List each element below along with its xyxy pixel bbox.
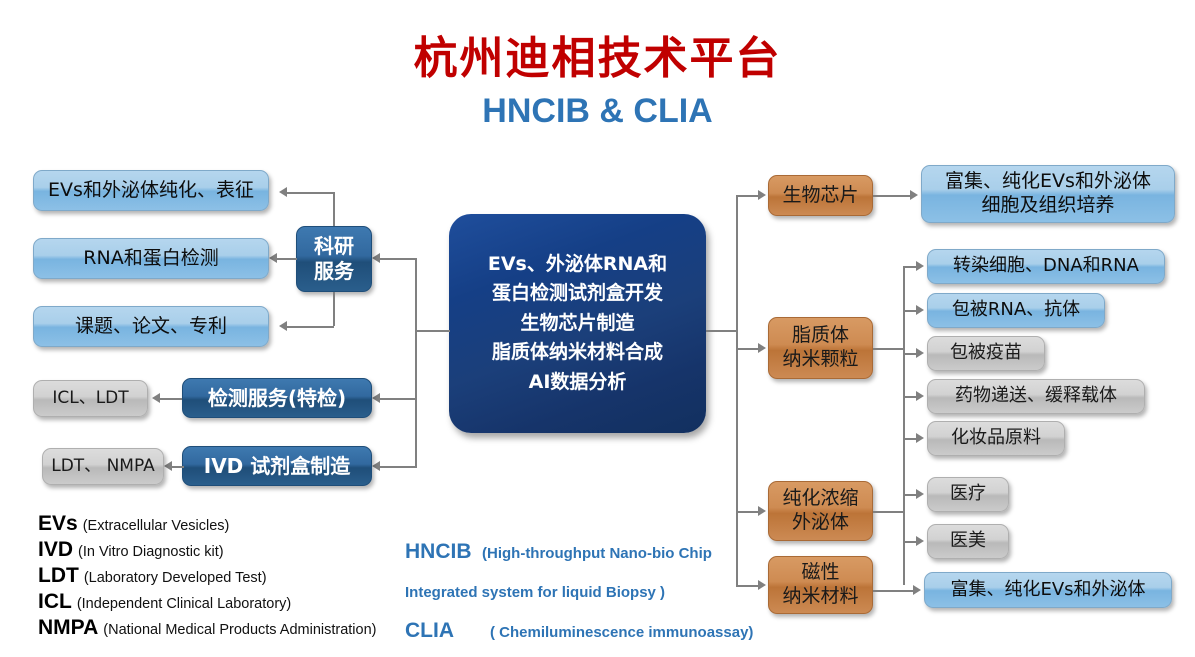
node-cosmetic-raw-material[interactable]: 化妆品原料	[927, 421, 1065, 456]
acronym-hncib-desc-line1: (High-throughput Nano-bio Chip	[482, 545, 712, 562]
acronym-hncib-name: HNCIB	[405, 540, 472, 564]
arrow-lipid-out4	[916, 391, 924, 401]
arrow-lipid-out1	[916, 261, 924, 271]
node-enrich-purify-cell-culture[interactable]: 富集、纯化EVs和外泌体 细胞及组织培养	[921, 165, 1175, 223]
acronym-hncib-desc-line2: Integrated system for liquid Biopsy )	[405, 584, 665, 601]
connector-to-purified-exosome	[736, 511, 760, 513]
hub-line-1: EVs、外泌体RNA和	[459, 250, 696, 279]
hub-line-3: 生物芯片制造	[459, 309, 696, 338]
legend-full-ldt: (Laboratory Developed Test)	[84, 570, 267, 586]
node-medical-aesthetics[interactable]: 医美	[927, 524, 1009, 559]
legend-abbr-ivd: IVD	[38, 538, 73, 562]
node-medical-treatment[interactable]: 医疗	[927, 477, 1009, 512]
connector-biochip-out	[873, 195, 912, 197]
arrow-research-out1	[279, 187, 287, 197]
legend-abbr-evs: EVs	[38, 512, 78, 536]
connector-left-trunk	[415, 258, 417, 468]
arrow-magnetic-out	[913, 585, 921, 595]
legend-item-ldt: LDT (Laboratory Developed Test)	[38, 564, 428, 590]
connector-to-ivd	[380, 466, 417, 468]
legend-full-nmpa: (National Medical Products Administratio…	[103, 622, 376, 638]
page-title-chinese: 杭州迪相技术平台	[0, 22, 1195, 86]
arrow-to-magnetic-nano	[758, 580, 766, 590]
connector-right-trunk	[736, 195, 738, 585]
node-enrich-purify-evs-exosome[interactable]: 富集、纯化EVs和外泌体	[924, 572, 1172, 608]
connector-hub-left-stem	[415, 330, 450, 332]
node-projects-papers-patents[interactable]: 课题、论文、专利	[33, 306, 269, 347]
diagram-canvas: 杭州迪相技术平台 HNCIB & CLIA EVs、外泌体RNA和 蛋白检测试剂…	[0, 0, 1195, 657]
arrow-exosome-out2	[916, 536, 924, 546]
arrow-lipid-out3	[916, 348, 924, 358]
node-ldt-nmpa[interactable]: LDT、 NMPA	[42, 448, 164, 485]
connector-to-magnetic-nano	[736, 585, 760, 587]
hub-line-5: AI数据分析	[459, 368, 696, 397]
arrow-to-research-service	[372, 253, 380, 263]
arrow-to-testing-service	[372, 393, 380, 403]
connector-research-to-out3	[287, 326, 334, 328]
node-drug-delivery-release[interactable]: 药物递送、缓释载体	[927, 379, 1145, 414]
legend-item-icl: ICL (Independent Clinical Laboratory)	[38, 590, 428, 616]
node-coated-vaccine[interactable]: 包被疫苗	[927, 336, 1045, 371]
node-coated-rna-antibody[interactable]: 包被RNA、抗体	[927, 293, 1105, 328]
node-purified-concentrated-exosome[interactable]: 纯化浓缩 外泌体	[768, 481, 873, 541]
connector-ivd-to-ldt	[172, 466, 184, 468]
acronym-clia-desc: ( Chemiluminescence immunoassay)	[490, 624, 753, 641]
node-research-service[interactable]: 科研 服务	[296, 226, 372, 292]
node-ev-purification[interactable]: EVs和外泌体纯化、表征	[33, 170, 269, 211]
central-platform-node[interactable]: EVs、外泌体RNA和 蛋白检测试剂盒开发 生物芯片制造 脂质体纳米材料合成 A…	[449, 214, 706, 433]
connector-exosome-trunk	[903, 494, 905, 542]
node-transfection-dna-rna[interactable]: 转染细胞、DNA和RNA	[927, 249, 1165, 284]
connector-lipid-stem	[873, 348, 905, 350]
legend-item-evs: EVs (Extracellular Vesicles)	[38, 512, 428, 538]
connector-to-lipid-nanoparticle	[736, 348, 760, 350]
node-lipid-nanoparticle[interactable]: 脂质体 纳米颗粒	[768, 317, 873, 379]
node-icl-ldt[interactable]: ICL、LDT	[33, 380, 148, 417]
arrow-to-purified-exosome	[758, 506, 766, 516]
connector-to-research-service	[380, 258, 417, 260]
connector-testing-to-icl	[160, 398, 182, 400]
arrow-lipid-out5	[916, 433, 924, 443]
node-ivd-kit-manufacturing[interactable]: IVD 试剂盒制造	[182, 446, 372, 486]
legend-abbr-ldt: LDT	[38, 564, 79, 588]
node-magnetic-nanomaterial[interactable]: 磁性 纳米材料	[768, 556, 873, 614]
arrow-research-out3	[279, 321, 287, 331]
page-title-english: HNCIB & CLIA	[0, 92, 1195, 131]
connector-to-testing-service	[380, 398, 417, 400]
arrow-to-lipid-nanoparticle	[758, 343, 766, 353]
legend-full-icl: (Independent Clinical Laboratory)	[77, 596, 291, 612]
legend-abbr-icl: ICL	[38, 590, 72, 614]
arrow-to-biochip	[758, 190, 766, 200]
legend-abbr-nmpa: NMPA	[38, 616, 98, 640]
legend-item-ivd: IVD (In Vitro Diagnostic kit)	[38, 538, 428, 564]
arrow-lipid-out2	[916, 305, 924, 315]
node-rna-protein-detection[interactable]: RNA和蛋白检测	[33, 238, 269, 279]
node-biochip[interactable]: 生物芯片	[768, 175, 873, 216]
legend-full-evs: (Extracellular Vesicles)	[83, 518, 230, 534]
connector-exosome-stem	[873, 511, 905, 513]
hub-line-2: 蛋白检测试剂盒开发	[459, 279, 696, 308]
abbreviation-legend: EVs (Extracellular Vesicles) IVD (In Vit…	[38, 512, 428, 642]
connector-to-biochip	[736, 195, 760, 197]
connector-research-up	[333, 192, 335, 226]
connector-hub-right-stem	[706, 330, 738, 332]
arrow-biochip-out	[910, 190, 918, 200]
connector-research-down	[333, 292, 335, 326]
legend-item-nmpa: NMPA (National Medical Products Administ…	[38, 616, 428, 642]
acronym-clia-name: CLIA	[405, 619, 454, 643]
hub-line-4: 脂质体纳米材料合成	[459, 338, 696, 367]
connector-magnetic-out	[873, 590, 915, 592]
node-testing-service[interactable]: 检测服务(特检)	[182, 378, 372, 418]
arrow-testing-to-icl	[152, 393, 160, 403]
legend-full-ivd: (In Vitro Diagnostic kit)	[78, 544, 224, 560]
connector-research-to-out2	[277, 258, 297, 260]
connector-research-to-out1	[287, 192, 334, 194]
arrow-ivd-to-ldt	[164, 461, 172, 471]
arrow-research-out2	[269, 253, 277, 263]
arrow-to-ivd	[372, 461, 380, 471]
arrow-exosome-out1	[916, 489, 924, 499]
